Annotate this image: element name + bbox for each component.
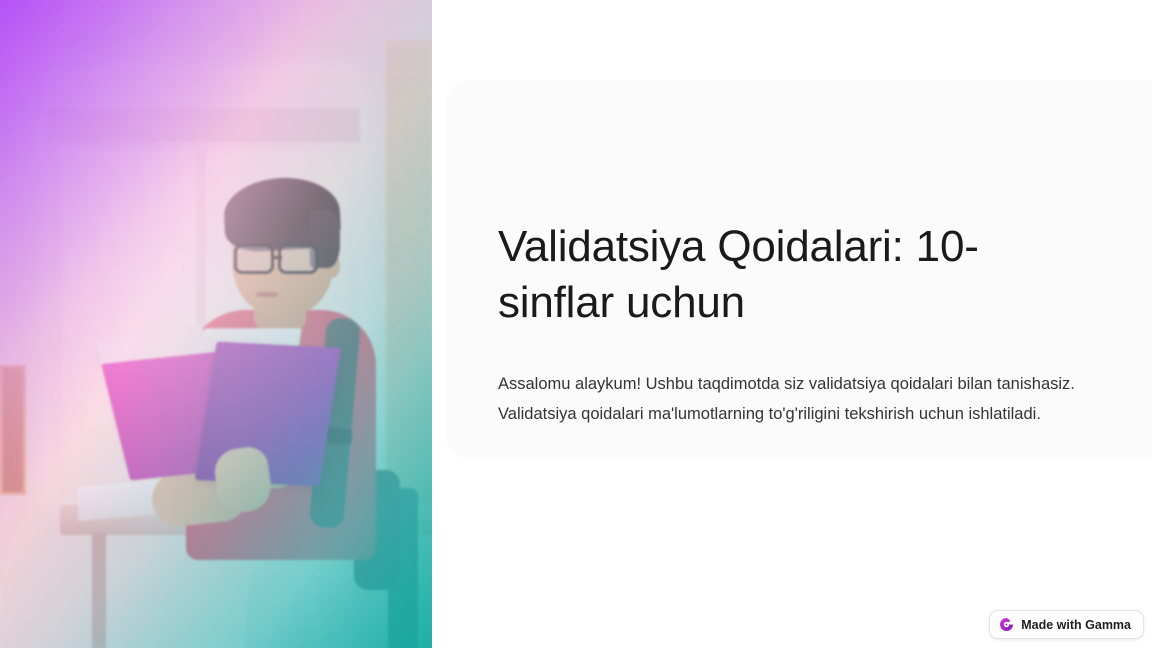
page-title: Validatsiya Qoidalari: 10-sinflar uchun bbox=[498, 219, 1043, 331]
content-panel: Validatsiya Qoidalari: 10-sinflar uchun … bbox=[432, 0, 1152, 648]
body-paragraph: Assalomu alaykum! Ushbu taqdimotda siz v… bbox=[498, 369, 1088, 429]
gradient-overlay-secondary bbox=[0, 0, 432, 648]
hero-image-panel bbox=[0, 0, 432, 648]
badge-label: Made with Gamma bbox=[1021, 618, 1131, 632]
student-photo bbox=[0, 0, 432, 648]
slide-root: Validatsiya Qoidalari: 10-sinflar uchun … bbox=[0, 0, 1152, 648]
made-with-gamma-badge[interactable]: Made with Gamma bbox=[989, 610, 1144, 639]
content-inner: Validatsiya Qoidalari: 10-sinflar uchun … bbox=[498, 0, 1098, 648]
gamma-logo-icon bbox=[999, 617, 1014, 632]
